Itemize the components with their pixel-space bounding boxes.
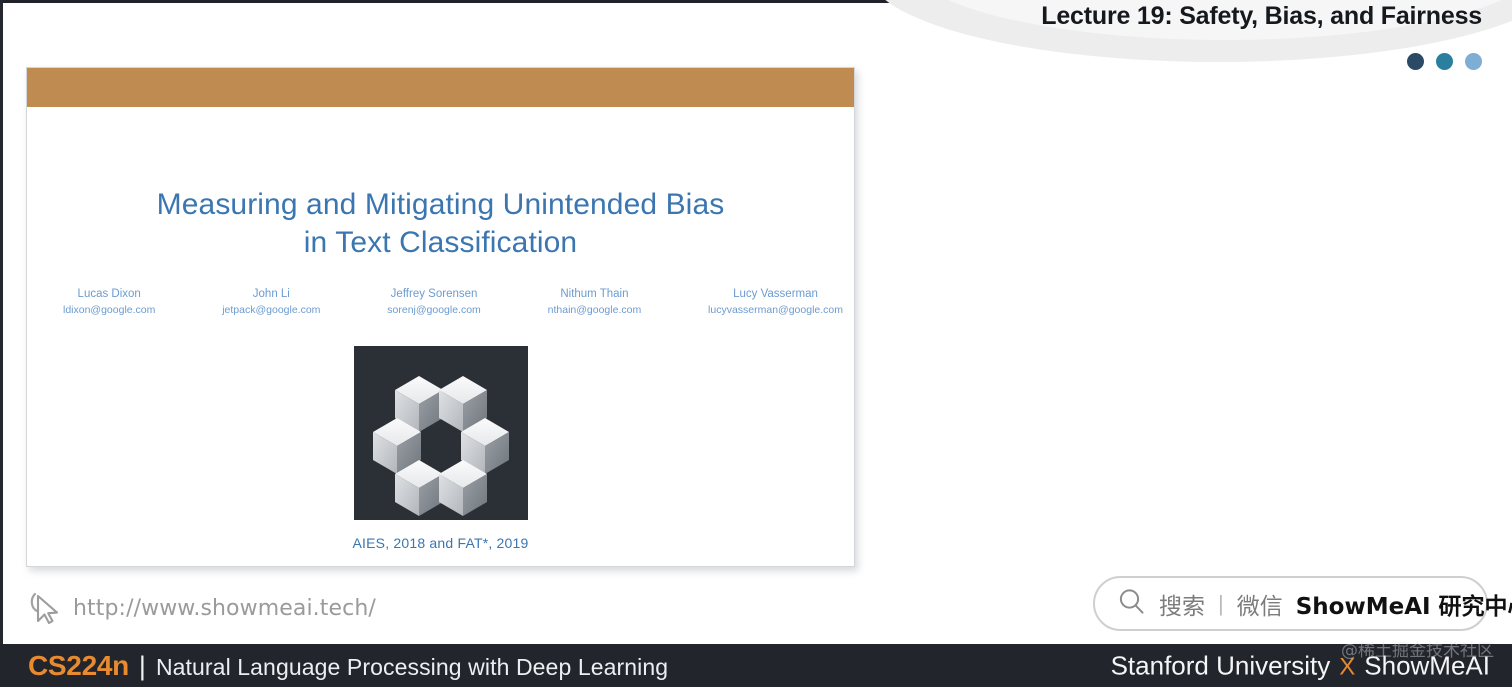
author-name: Lucy Vasserman [708,286,843,303]
page-left-border [0,0,3,646]
author-email: sorenj@google.com [387,303,481,318]
slide-canvas[interactable]: Measuring and Mitigating Unintended Bias… [26,67,855,567]
dot-medium [1436,53,1453,70]
author-entry: John Li jetpack@google.com [222,286,320,318]
footer-brand-info: Stanford University X ShowMeAI [1111,650,1490,681]
site-url-bar[interactable]: http://www.showmeai.tech/ [28,590,376,626]
logo-container [27,346,854,520]
author-email: ldixon@google.com [63,303,155,318]
footer-course-info: CS224n | Natural Language Processing wit… [28,650,668,682]
author-name: Jeffrey Sorensen [387,286,481,303]
search-icon [1117,587,1146,621]
university-name: Stanford University [1111,650,1331,681]
author-list: Lucas Dixon ldixon@google.com John Li je… [63,286,843,318]
jigsaw-cubes-logo [354,346,528,520]
paper-venue-caption: AIES, 2018 and FAT*, 2019 [27,535,854,551]
slide-accent-band [27,68,854,107]
author-name: John Li [222,286,320,303]
dot-dark [1407,53,1424,70]
footer-divider: | [139,651,146,682]
partner-name: ShowMeAI [1364,650,1490,681]
author-name: Nithum Thain [548,286,642,303]
search-label-zh: 搜索 [1159,587,1205,621]
dot-light [1465,53,1482,70]
author-entry: Lucy Vasserman lucyvasserman@google.com [708,286,843,318]
search-separator: | [1218,591,1224,617]
wechat-search-pill[interactable]: 搜索 | 微信 ShowMeAI 研究中心 [1093,576,1488,631]
site-url-text[interactable]: http://www.showmeai.tech/ [73,596,376,621]
slide-title-line-2: in Text Classification [27,224,854,262]
cursor-arrow-icon [28,590,62,626]
slide-viewer-page: Lecture 19: Safety, Bias, and Fairness M… [0,0,1512,687]
course-code: CS224n [28,650,129,682]
author-entry: Nithum Thain nthain@google.com [548,286,642,318]
author-name: Lucas Dixon [63,286,155,303]
author-email: lucyvasserman@google.com [708,303,843,318]
author-email: nthain@google.com [548,303,642,318]
progress-dots [1407,53,1482,70]
author-entry: Jeffrey Sorensen sorenj@google.com [387,286,481,318]
slide-title: Measuring and Mitigating Unintended Bias… [27,186,854,263]
author-entry: Lucas Dixon ldixon@google.com [63,286,155,318]
course-name: Natural Language Processing with Deep Le… [156,654,668,681]
lecture-title: Lecture 19: Safety, Bias, and Fairness [1041,2,1482,31]
search-channel-zh: 微信 [1237,587,1283,621]
search-brand-text: ShowMeAI 研究中心 [1296,587,1512,621]
slide-title-line-1: Measuring and Mitigating Unintended Bias [27,186,854,224]
x-mark-icon: X [1339,653,1355,681]
author-email: jetpack@google.com [222,303,320,318]
course-footer: CS224n | Natural Language Processing wit… [0,644,1512,687]
